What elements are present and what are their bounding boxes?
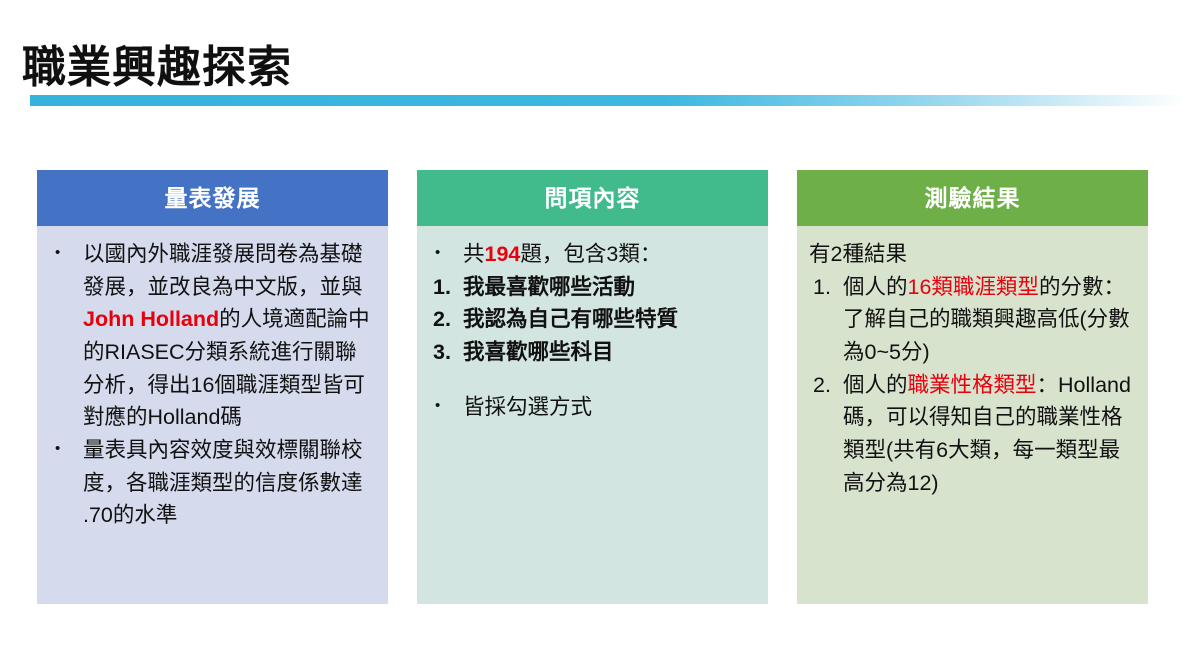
column-header-item-content: 問項內容 [417, 170, 768, 226]
list-item-text: 個人的16類職涯類型的分數：了解自己的職類興趣高低(分數為0~5分) [843, 271, 1136, 369]
content-columns: 量表發展 • 以國內外職涯發展問卷為基礎發展，並改良為中文版，並與John Ho… [0, 170, 1185, 610]
number-marker: 1. [807, 271, 843, 304]
list-item: 有2種結果 [807, 238, 1136, 271]
text-segment-highlight: 194 [485, 242, 521, 266]
text-segment: 共 [463, 242, 485, 266]
list-item-text: 共194題，包含3類： [463, 238, 756, 271]
text-segment-highlight: John Holland [83, 307, 219, 331]
list-item-text: 個人的職業性格類型：Holland碼，可以得知自己的職業性格類型(共有6大類，每… [843, 369, 1136, 500]
list-item-text: 我認為自己有哪些特質 [463, 303, 756, 336]
list-item-text: 以國內外職涯發展問卷為基礎發展，並改良為中文版，並與John Holland的人… [83, 238, 376, 434]
column-body-item-content: • 共194題，包含3類： 1. 我最喜歡哪些活動 2. 我認為自己有哪些特質 … [417, 226, 768, 604]
column-body-test-results: 有2種結果 1. 個人的16類職涯類型的分數：了解自己的職類興趣高低(分數為0~… [797, 226, 1148, 604]
list-item-text: 我最喜歡哪些活動 [463, 271, 756, 304]
bullet-marker: • [47, 434, 83, 463]
number-marker: 2. [427, 303, 463, 336]
list-item: • 以國內外職涯發展問卷為基礎發展，並改良為中文版，並與John Holland… [47, 238, 376, 434]
page-title: 職業興趣探索 [22, 43, 292, 94]
list-spacer [427, 369, 756, 391]
number-marker: 3. [427, 336, 463, 369]
list-item-text: 皆採勾選方式 [463, 391, 756, 424]
list-item: 2. 我認為自己有哪些特質 [427, 303, 756, 336]
column-header-scale-development: 量表發展 [37, 170, 388, 226]
text-segment: 個人的 [843, 275, 908, 299]
list-item: 1. 個人的16類職涯類型的分數：了解自己的職類興趣高低(分數為0~5分) [807, 271, 1136, 369]
list-item: 2. 個人的職業性格類型：Holland碼，可以得知自己的職業性格類型(共有6大… [807, 369, 1136, 500]
column-test-results: 測驗結果 有2種結果 1. 個人的16類職涯類型的分數：了解自己的職類興趣高低(… [797, 170, 1148, 604]
bullet-marker: • [427, 391, 463, 420]
number-marker: 1. [427, 271, 463, 304]
text-segment-highlight: 職業性格類型 [908, 373, 1037, 397]
list-item-text: 有2種結果 [807, 238, 1136, 271]
list-item: 3. 我喜歡哪些科目 [427, 336, 756, 369]
number-marker: 2. [807, 369, 843, 402]
column-scale-development: 量表發展 • 以國內外職涯發展問卷為基礎發展，並改良為中文版，並與John Ho… [37, 170, 388, 604]
bullet-marker: • [427, 238, 463, 267]
list-item: • 量表具內容效度與效標關聯校度，各職涯類型的信度係數達 .70的水準 [47, 434, 376, 532]
list-item-text: 量表具內容效度與效標關聯校度，各職涯類型的信度係數達 .70的水準 [83, 434, 376, 532]
column-header-test-results: 測驗結果 [797, 170, 1148, 226]
text-segment: 題，包含3類： [520, 242, 661, 266]
list-item: 1. 我最喜歡哪些活動 [427, 271, 756, 304]
column-body-scale-development: • 以國內外職涯發展問卷為基礎發展，並改良為中文版，並與John Holland… [37, 226, 388, 604]
list-item: • 共194題，包含3類： [427, 238, 756, 271]
list-item-text: 我喜歡哪些科目 [463, 336, 756, 369]
column-item-content: 問項內容 • 共194題，包含3類： 1. 我最喜歡哪些活動 2. 我認為自己有… [417, 170, 768, 604]
title-divider-rule [30, 95, 1185, 106]
bullet-marker: • [47, 238, 83, 267]
list-item: • 皆採勾選方式 [427, 391, 756, 424]
text-segment-highlight: 16類職涯類型 [908, 275, 1039, 299]
text-segment: 個人的 [843, 373, 908, 397]
text-segment: 以國內外職涯發展問卷為基礎發展，並改良為中文版，並與 [83, 242, 363, 299]
